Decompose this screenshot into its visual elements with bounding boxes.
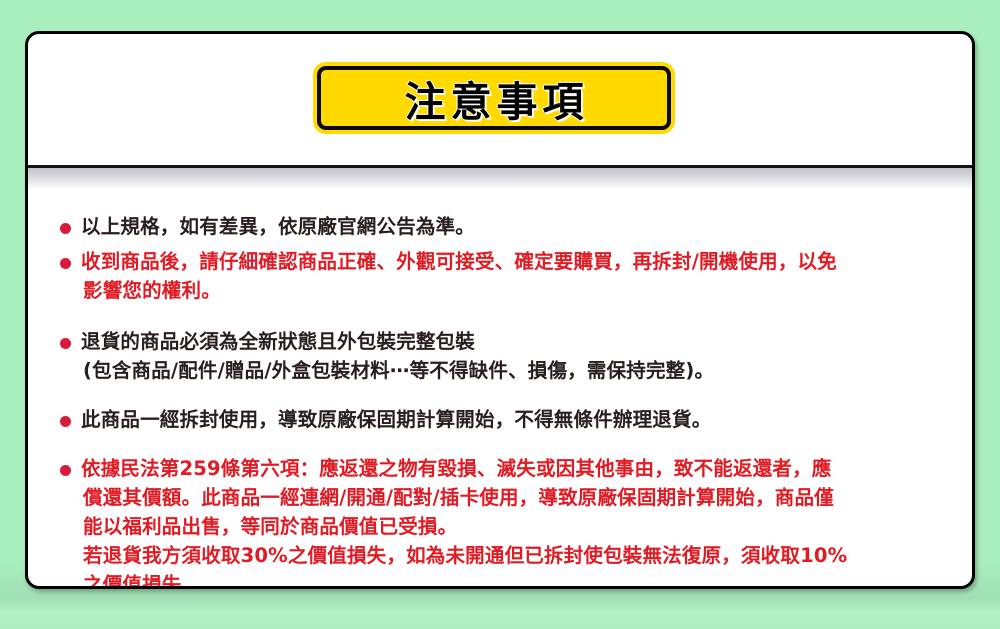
notice-item: 依據民法第259條第六項：應返還之物有毀損、滅失或因其他事由，致不能返還者，應償… <box>60 454 952 589</box>
bullet-dot-icon <box>60 416 71 427</box>
notice-card: 注意事項 以上規格，如有差異，依原廠官網公告為準。收到商品後，請仔細確認商品正確… <box>25 31 975 589</box>
title-plate-inner: 注意事項 <box>317 66 671 130</box>
notice-text: 退貨的商品必須為全新狀態且外包裝完整包裝(包含商品/配件/贈品/外盒包裝材料⋯等… <box>81 327 952 385</box>
header-divider-shadow <box>28 168 972 190</box>
card-header: 注意事項 <box>28 34 972 165</box>
notice-line: 以上規格，如有差異，依原廠官網公告為準。 <box>81 212 952 241</box>
notice-line: 依據民法第259條第六項：應返還之物有毀損、滅失或因其他事由，致不能返還者，應 <box>81 454 952 483</box>
title-plate: 注意事項 <box>313 62 675 134</box>
notice-text: 以上規格，如有差異，依原廠官網公告為準。 <box>81 212 952 241</box>
notice-item: 退貨的商品必須為全新狀態且外包裝完整包裝(包含商品/配件/贈品/外盒包裝材料⋯等… <box>60 327 952 385</box>
bullet-dot-icon <box>60 223 71 234</box>
notice-line: 之價值損失。 <box>83 570 952 589</box>
bullet-dot-icon <box>60 465 71 476</box>
bullet-dot-icon <box>60 338 71 349</box>
bullet-dot-icon <box>60 258 71 269</box>
notice-line: 能以福利品出售，等同於商品價值已受損。 <box>83 512 952 541</box>
page-background: 注意事項 以上規格，如有差異，依原廠官網公告為準。收到商品後，請仔細確認商品正確… <box>0 0 1000 629</box>
page-title: 注意事項 <box>400 68 589 128</box>
notice-text: 收到商品後，請仔細確認商品正確、外觀可接受、確定要購買，再拆封/開機使用，以免影… <box>81 247 952 305</box>
notice-line: 償還其價額。此商品一經連網/開通/配對/插卡使用，導致原廠保固期計算開始，商品僅 <box>83 483 952 512</box>
notice-text: 此商品一經拆封使用，導致原廠保固期計算開始，不得無條件辦理退貨。 <box>81 405 952 434</box>
notice-item: 收到商品後，請仔細確認商品正確、外觀可接受、確定要購買，再拆封/開機使用，以免影… <box>60 247 952 305</box>
notice-line: 影響您的權利。 <box>83 276 952 305</box>
notice-line: 收到商品後，請仔細確認商品正確、外觀可接受、確定要購買，再拆封/開機使用，以免 <box>81 247 952 276</box>
notice-list: 以上規格，如有差異，依原廠官網公告為準。收到商品後，請仔細確認商品正確、外觀可接… <box>28 190 972 589</box>
header-divider <box>28 165 972 168</box>
notice-line: 若退貨我方須收取30%之價值損失，如為未開通但已拆封使包裝無法復原，須收取10% <box>83 541 952 570</box>
notice-line: 退貨的商品必須為全新狀態且外包裝完整包裝 <box>81 327 952 356</box>
notice-item: 以上規格，如有差異，依原廠官網公告為準。 <box>60 212 952 241</box>
notice-item: 此商品一經拆封使用，導致原廠保固期計算開始，不得無條件辦理退貨。 <box>60 405 952 434</box>
notice-line: 此商品一經拆封使用，導致原廠保固期計算開始，不得無條件辦理退貨。 <box>81 405 952 434</box>
notice-line: (包含商品/配件/贈品/外盒包裝材料⋯等不得缺件、損傷，需保持完整)。 <box>83 356 952 385</box>
notice-text: 依據民法第259條第六項：應返還之物有毀損、滅失或因其他事由，致不能返還者，應償… <box>81 454 952 589</box>
